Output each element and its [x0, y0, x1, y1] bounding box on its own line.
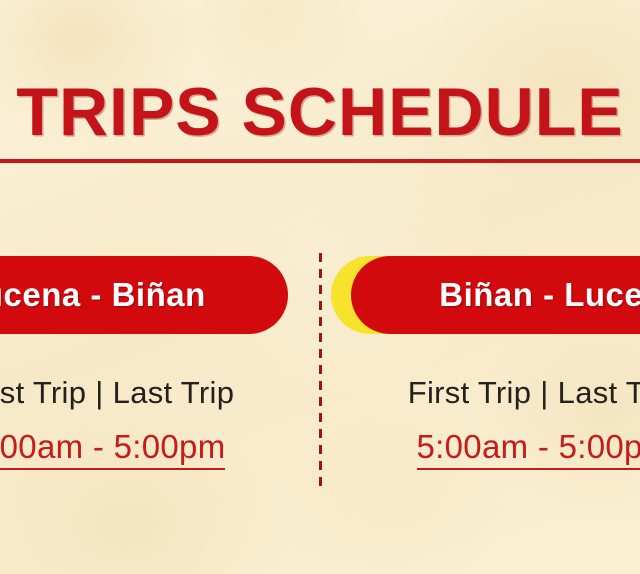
route-badge-pill[interactable]: Biñan - Lucena — [351, 256, 640, 334]
route-column-lucena-binan: Lucena - Biñan First Trip|Last Trip 5:00… — [0, 250, 321, 500]
page-title: TRIPS SCHEDULE — [0, 78, 640, 146]
route-badge-binan-lucena[interactable]: Biñan - Lucena — [351, 256, 640, 334]
first-trip-label: First Trip — [408, 375, 532, 410]
title-block: TRIPS SCHEDULE — [0, 78, 640, 146]
first-trip-label: First Trip — [0, 375, 86, 410]
route-column-binan-lucena: Biñan - Lucena First Trip|Last Trip 5:00… — [321, 250, 640, 500]
trip-times-row: 5:00am - 5:00pm — [0, 428, 259, 470]
routes-container: Lucena - Biñan First Trip|Last Trip 5:00… — [0, 250, 640, 500]
last-trip-label: Last Trip — [558, 375, 640, 410]
trips-schedule-poster: TRIPS SCHEDULE Lucena - Biñan First Trip… — [0, 0, 640, 574]
last-trip-label: Last Trip — [113, 375, 235, 410]
trip-heading-row: First Trip|Last Trip — [383, 375, 640, 411]
trip-times-value: 5:00am - 5:00pm — [0, 428, 225, 470]
route-badge-label: Biñan - Lucena — [439, 276, 640, 314]
trip-label-separator: | — [86, 375, 112, 410]
route-badge-pill[interactable]: Lucena - Biñan — [0, 256, 288, 334]
route-badge-label: Lucena - Biñan — [0, 276, 206, 314]
trip-heading-row: First Trip|Last Trip — [0, 375, 259, 411]
trip-times-row: 5:00am - 5:00pm — [383, 428, 640, 470]
trip-times-value: 5:00am - 5:00pm — [417, 428, 640, 470]
trip-label-separator: | — [531, 375, 557, 410]
route-badge-lucena-binan[interactable]: Lucena - Biñan — [0, 256, 288, 334]
title-underline-rule — [0, 159, 640, 163]
